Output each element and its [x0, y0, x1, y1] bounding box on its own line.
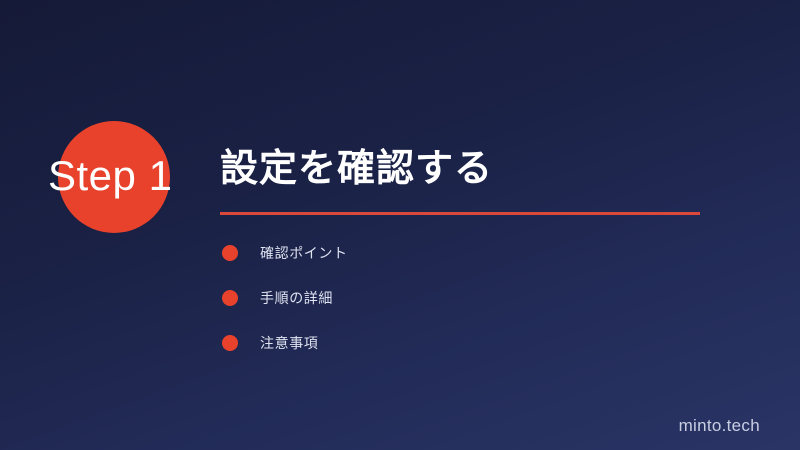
slide-canvas: Step 1 設定を確認する 確認ポイント 手順の詳細 注意事項 minto.t…: [0, 0, 800, 450]
dot-icon: [222, 290, 238, 306]
list-item: 注意事項: [222, 331, 348, 355]
list-item: 手順の詳細: [222, 286, 348, 310]
list-item-label: 確認ポイント: [260, 243, 348, 263]
title-block: 設定を確認する: [220, 144, 702, 215]
list-item-label: 注意事項: [260, 333, 318, 353]
dot-icon: [222, 245, 238, 261]
step-label: Step 1: [48, 150, 172, 202]
page-title: 設定を確認する: [220, 144, 702, 194]
dot-icon: [222, 335, 238, 351]
list-item: 確認ポイント: [222, 241, 348, 265]
title-divider: [220, 212, 700, 215]
list-item-label: 手順の詳細: [260, 288, 333, 308]
footer-brand: minto.tech: [679, 416, 760, 436]
bullet-list: 確認ポイント 手順の詳細 注意事項: [222, 241, 348, 376]
